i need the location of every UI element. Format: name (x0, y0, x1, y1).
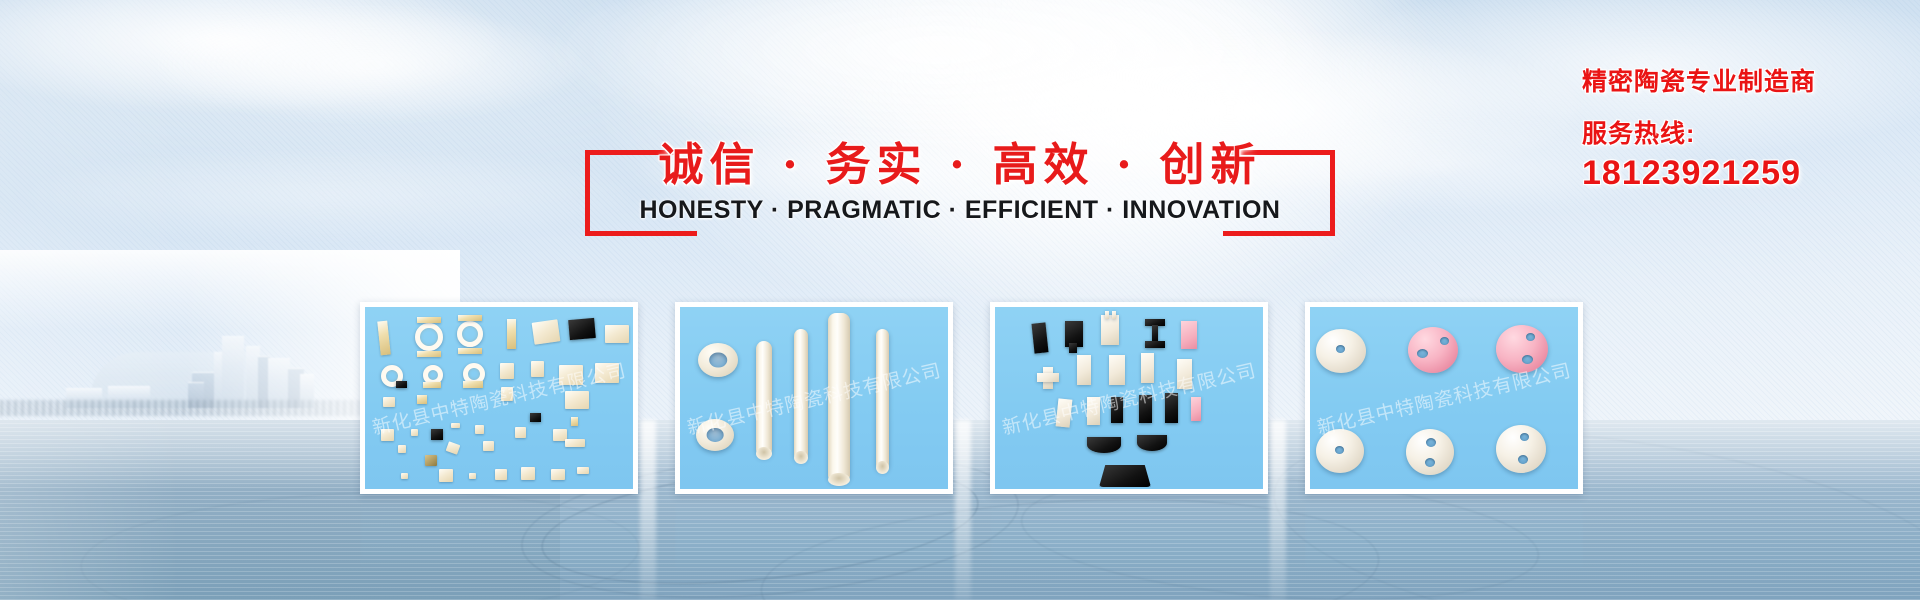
ceramic-part (507, 319, 516, 349)
ceramic-part (431, 429, 443, 440)
ceramic-part (446, 441, 461, 455)
product-panel-smd-components[interactable]: 新化县中特陶瓷科技有限公司 (360, 302, 638, 494)
ceramic-part (495, 469, 507, 480)
ceramic-ring (698, 343, 738, 377)
ceramic-part (425, 455, 437, 466)
ceramic-block (1031, 322, 1048, 353)
ceramic-block (1056, 398, 1073, 427)
watermark-text: 新化县中特陶瓷科技有限公司 (369, 356, 628, 441)
ceramic-part (501, 387, 513, 401)
product-panel-blocks[interactable]: 新化县中特陶瓷科技有限公司 (990, 302, 1268, 494)
product-gallery: 新化县中特陶瓷科技有限公司 新化县中特陶瓷科技有限公司 (0, 0, 1920, 600)
ceramic-part (605, 325, 629, 343)
ceramic-block (1077, 355, 1091, 385)
ceramic-part (577, 467, 589, 474)
ceramic-part (500, 363, 514, 379)
ceramic-part (565, 439, 585, 447)
ceramic-part (475, 425, 484, 434)
ceramic-disc (1496, 425, 1546, 473)
ceramic-part (383, 397, 395, 407)
ceramic-part (531, 361, 544, 377)
panel-image: 新化县中特陶瓷科技有限公司 (995, 307, 1263, 489)
ceramic-block (1105, 311, 1109, 319)
ceramic-part (571, 417, 578, 426)
ceramic-tube (876, 329, 889, 471)
ceramic-part (521, 467, 535, 480)
ceramic-block (1069, 343, 1077, 353)
ceramic-block (1181, 321, 1197, 349)
ceramic-part (415, 323, 443, 351)
ceramic-block (1087, 397, 1100, 425)
ceramic-block (1141, 353, 1154, 383)
ceramic-part (417, 395, 427, 404)
promo-banner: 诚信 · 务实 · 高效 · 创新 HONESTY · PRAGMATIC · … (0, 0, 1920, 600)
ceramic-block (1112, 311, 1116, 319)
ceramic-part (401, 473, 408, 479)
ceramic-block (1101, 315, 1119, 345)
watermark-text: 新化县中特陶瓷科技有限公司 (999, 356, 1258, 441)
ceramic-part (458, 315, 482, 321)
ceramic-part (451, 423, 460, 428)
ceramic-part (377, 321, 390, 356)
ceramic-tube (794, 329, 808, 461)
ceramic-block (1177, 359, 1192, 389)
ceramic-part (439, 469, 453, 482)
ceramic-disc (1408, 327, 1458, 373)
ceramic-part (458, 348, 482, 354)
ceramic-part (559, 365, 583, 385)
ceramic-part (532, 319, 561, 344)
panel-image: 新化县中特陶瓷科技有限公司 (680, 307, 948, 489)
ceramic-blade (1137, 435, 1167, 451)
ceramic-part (417, 317, 441, 323)
ceramic-block (1145, 341, 1165, 348)
ceramic-part (396, 381, 407, 388)
ceramic-block (1165, 393, 1178, 423)
ceramic-blade (1087, 437, 1121, 453)
ceramic-block (1109, 355, 1125, 385)
ceramic-part (595, 363, 619, 383)
ceramic-ring (696, 419, 734, 451)
ceramic-part (457, 321, 483, 347)
ceramic-block (1191, 397, 1201, 421)
ceramic-part (398, 445, 406, 453)
ceramic-part (515, 427, 526, 438)
ceramic-tube (828, 313, 850, 483)
ceramic-disc (1496, 325, 1548, 373)
ceramic-part (565, 391, 589, 409)
ceramic-disc (1406, 429, 1454, 475)
ceramic-part (568, 318, 596, 340)
ceramic-part (469, 473, 476, 479)
ceramic-part (411, 429, 418, 436)
ceramic-block (1037, 373, 1059, 382)
ceramic-part (423, 382, 441, 388)
ceramic-part (381, 429, 394, 441)
ceramic-part (551, 469, 565, 480)
ceramic-part (530, 413, 541, 422)
panel-image: 新化县中特陶瓷科技有限公司 (1310, 307, 1578, 489)
ceramic-blade (1099, 465, 1151, 487)
ceramic-block (1111, 397, 1123, 423)
panel-image: 新化县中特陶瓷科技有限公司 (365, 307, 633, 489)
ceramic-part (417, 351, 441, 357)
product-panel-discs[interactable]: 新化县中特陶瓷科技有限公司 (1305, 302, 1583, 494)
product-panel-tubes-rings[interactable]: 新化县中特陶瓷科技有限公司 (675, 302, 953, 494)
ceramic-tube (756, 341, 772, 457)
ceramic-part (483, 441, 494, 451)
ceramic-disc (1316, 329, 1366, 373)
ceramic-block (1139, 395, 1152, 423)
ceramic-disc (1316, 429, 1364, 473)
ceramic-part (463, 381, 483, 388)
